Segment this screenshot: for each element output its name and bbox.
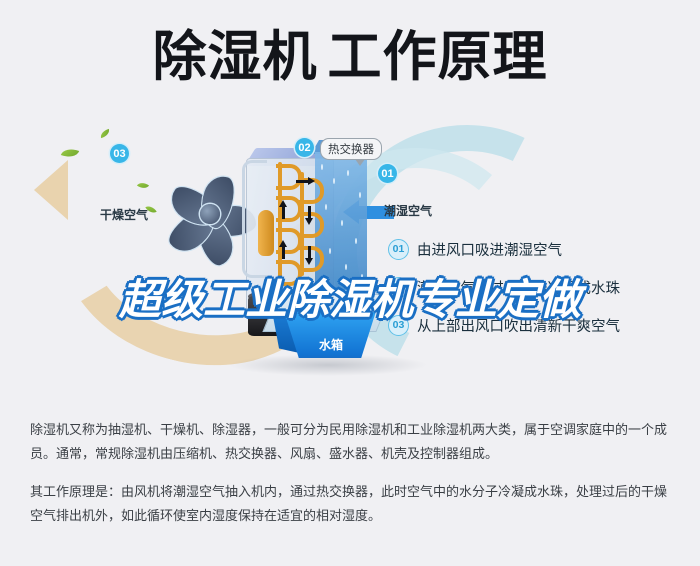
dry-air-arrow-head bbox=[34, 160, 68, 220]
badge-01: 01 bbox=[378, 164, 397, 183]
step-number: 01 bbox=[388, 239, 409, 260]
step-text: 由进风口吸进潮湿空气 bbox=[417, 239, 562, 260]
humid-air-label: 潮湿空气 bbox=[384, 202, 432, 219]
water-tank-label: 水箱 bbox=[300, 336, 362, 353]
promo-banner-text: 超级工业除湿机专业定做 bbox=[0, 266, 700, 327]
dry-air-label: 干燥空气 bbox=[100, 206, 148, 223]
paragraph-2: 其工作原理是：由风机将潮湿空气抽入机内，通过热交换器，此时空气中的水分子冷凝成水… bbox=[30, 480, 675, 528]
body-copy: 除湿机又称为抽湿机、干燥机、除湿器，一般可分为民用除湿机和工业除湿机两大类，属于… bbox=[30, 418, 675, 542]
list-item: 01 由进风口吸进潮湿空气 bbox=[388, 238, 688, 260]
badge-02: 02 bbox=[295, 138, 314, 157]
machine-shadow bbox=[228, 354, 428, 376]
page-title-part1: 除湿机 bbox=[153, 27, 318, 87]
leaf-icon bbox=[99, 129, 110, 138]
paragraph-1: 除湿机又称为抽湿机、干燥机、除湿器，一般可分为民用除湿机和工业除湿机两大类，属于… bbox=[30, 418, 675, 466]
badge-03: 03 bbox=[110, 144, 129, 163]
page-title: 除湿机工作原理 bbox=[0, 26, 700, 88]
infographic-page: 除湿机工作原理 bbox=[0, 0, 700, 566]
page-title-part2: 工作原理 bbox=[328, 27, 548, 87]
leaf-icon bbox=[61, 146, 79, 161]
heat-exchanger-callout: 热交换器 bbox=[320, 138, 382, 160]
